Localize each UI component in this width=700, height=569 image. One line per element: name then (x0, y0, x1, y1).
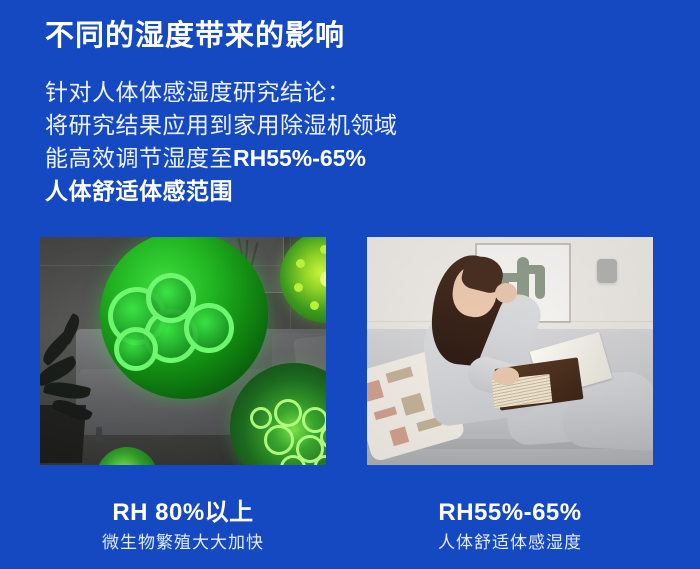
caption-heading: RH 80%以上 (40, 498, 326, 528)
scene-shading (367, 237, 653, 465)
body-line-3: 能高效调节湿度至RH55%-65% (45, 142, 398, 175)
photo-comfort-humidity (367, 237, 653, 465)
promo-slide: 不同的湿度带来的影响 针对人体体感湿度研究结论： 将研究结果应用到家用除湿机领域… (0, 0, 700, 569)
body-copy: 针对人体体感湿度研究结论： 将研究结果应用到家用除湿机领域 能高效调节湿度至RH… (45, 76, 398, 208)
body-line-3-value: RH55%-65% (233, 145, 366, 171)
caption-comfort-humidity: RH55%-65% 人体舒适体感湿度 (367, 498, 653, 556)
germ-small-accent (148, 297, 202, 351)
caption-high-humidity: RH 80%以上 微生物繁殖大大加快 (40, 498, 326, 556)
body-line-2: 将研究结果应用到家用除湿机领域 (45, 109, 398, 142)
photo-high-humidity (40, 237, 326, 465)
body-line-3-prefix: 能高效调节湿度至 (45, 145, 233, 171)
page-title: 不同的湿度带来的影响 (45, 16, 345, 56)
caption-heading: RH55%-65% (367, 498, 653, 528)
caption-subtext: 微生物繁殖大大加快 (40, 530, 326, 556)
caption-subtext: 人体舒适体感湿度 (367, 530, 653, 556)
dark-room-scene (40, 237, 326, 465)
bright-room-scene (367, 237, 653, 465)
body-line-1: 针对人体体感湿度研究结论： (45, 76, 398, 109)
body-line-4: 人体舒适体感范围 (45, 175, 398, 208)
